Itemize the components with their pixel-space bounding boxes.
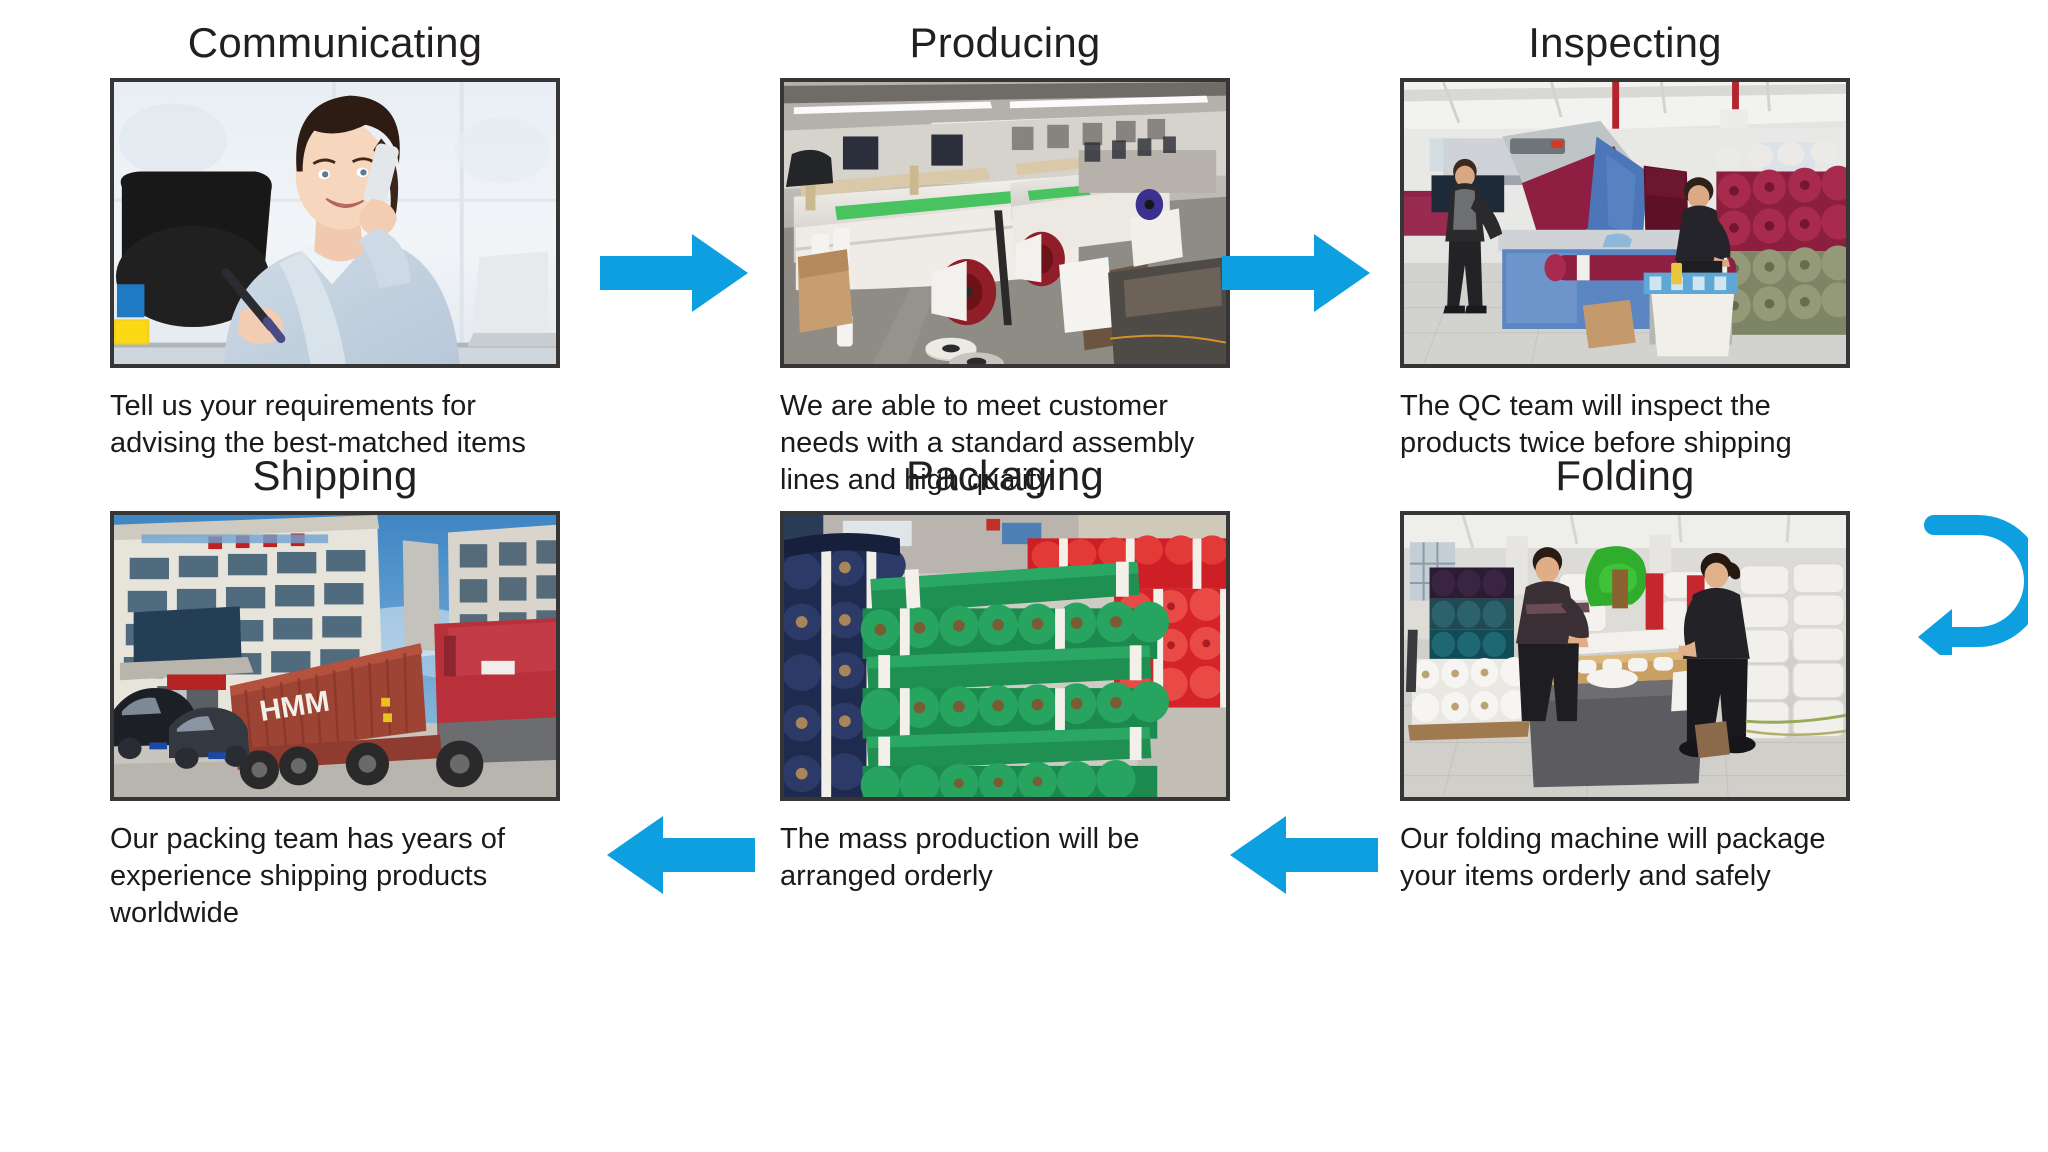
step-card-communicating: Communicating (110, 22, 570, 462)
step-caption-folding: Our folding machine will package your it… (1400, 821, 1830, 895)
arrow-folding-to-packaging (1228, 810, 1378, 900)
step-caption-packaging: The mass production will be arranged ord… (780, 821, 1210, 895)
stacked-fabric-rolls-photo (780, 511, 1230, 801)
arrow-right-icon (1222, 228, 1372, 318)
step-card-shipping: Shipping (110, 455, 570, 932)
step-card-packaging: Packaging (780, 455, 1240, 895)
arrow-inspecting-to-folding (1908, 505, 2028, 655)
arrow-packaging-to-shipping (605, 810, 755, 900)
arrow-left-icon (1228, 810, 1378, 900)
step-title-producing: Producing (780, 22, 1230, 64)
container-truck-at-factory-photo: HMM (110, 511, 560, 801)
step-title-folding: Folding (1400, 455, 1850, 497)
qc-fabric-inspection-photo (1400, 78, 1850, 368)
step-title-inspecting: Inspecting (1400, 22, 1850, 64)
step-title-shipping: Shipping (110, 455, 560, 497)
step-card-folding: Folding (1400, 455, 1860, 895)
process-flow-diagram: Communicating (0, 0, 2048, 1152)
folding-machine-workers-photo (1400, 511, 1850, 801)
arrow-communicating-to-producing (600, 228, 750, 318)
arrow-uturn-icon (1908, 505, 2028, 655)
step-caption-shipping: Our packing team has years of experience… (110, 821, 540, 932)
step-title-communicating: Communicating (110, 22, 560, 64)
step-title-packaging: Packaging (780, 455, 1230, 497)
office-woman-on-phone-photo (110, 78, 560, 368)
arrow-producing-to-inspecting (1222, 228, 1372, 318)
weaving-looms-factory-photo (780, 78, 1230, 368)
step-card-inspecting: Inspecting (1400, 22, 1860, 462)
arrow-right-icon (600, 228, 750, 318)
step-card-producing: Producing (780, 22, 1240, 499)
arrow-left-icon (605, 810, 755, 900)
